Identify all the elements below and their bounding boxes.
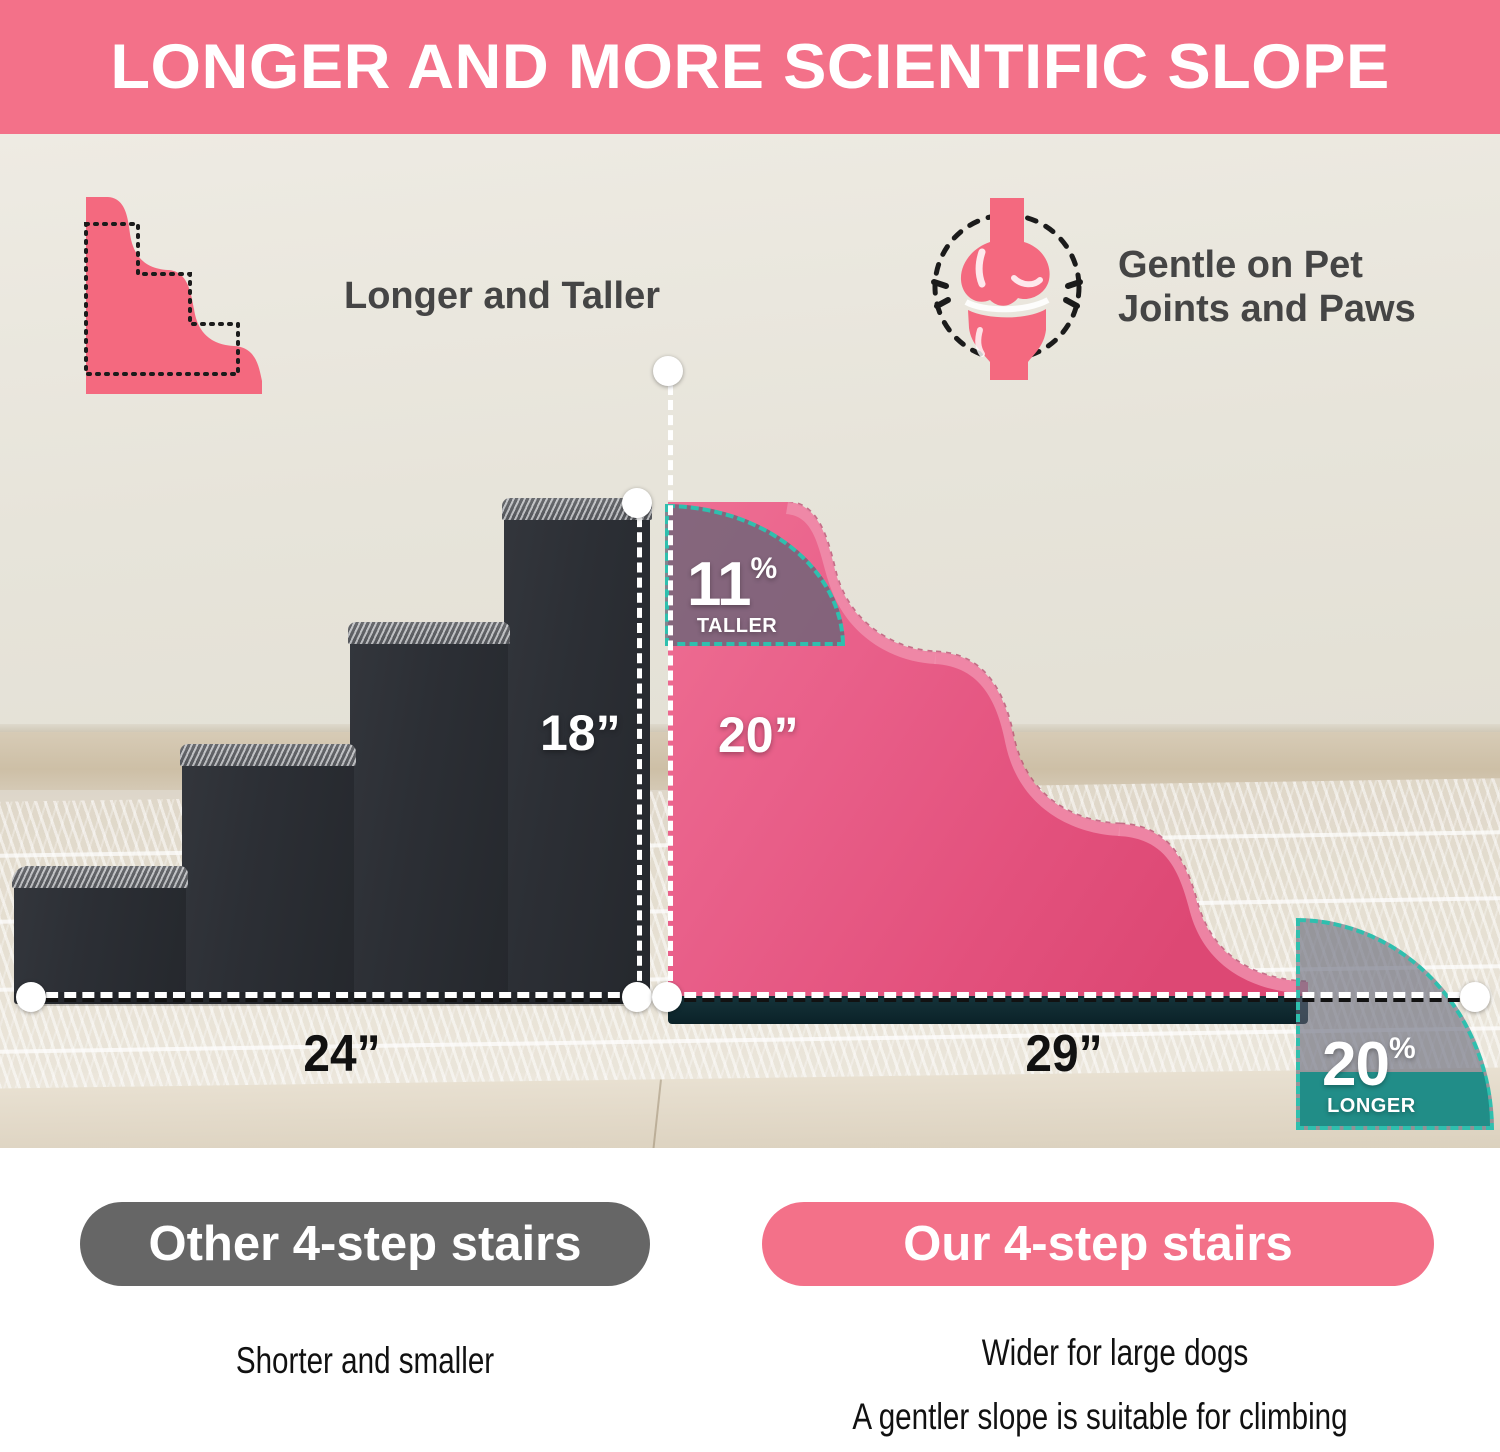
our-caption-1: Wider for large dogs	[807, 1332, 1423, 1374]
feature-label-longer-and-taller: Longer and Taller	[344, 275, 660, 319]
taller-badge-sub: TALLER	[687, 616, 777, 636]
product-comparison-photo: 11% TALLER 20% LONGER 18” 20” 24”	[0, 134, 1500, 1148]
dim-dot-other-top	[622, 488, 652, 518]
taller-badge-number: 11	[687, 550, 751, 619]
stairs-outline-icon	[78, 189, 318, 404]
dim-label-other-width: 24”	[303, 1024, 380, 1084]
longer-badge-sub: LONGER	[1322, 1096, 1416, 1116]
dim-dot-other-left	[16, 982, 46, 1012]
dim-line-other-height	[637, 502, 642, 996]
dim-dot-other-right	[622, 982, 652, 1012]
our-stairs-pill: Our 4-step stairs	[762, 1202, 1434, 1286]
dim-dot-our-right	[1460, 982, 1490, 1012]
dim-dot-our-left	[652, 982, 682, 1012]
taller-badge-percent: %	[751, 552, 778, 585]
dim-line-other-width-white	[28, 992, 638, 998]
dim-label-other-height: 18”	[540, 704, 621, 762]
dim-line-our-height	[668, 370, 673, 996]
dim-line-our-width-white	[666, 992, 1478, 998]
longer-badge-number: 20	[1322, 1030, 1389, 1099]
other-caption-1: Shorter and smaller	[73, 1340, 657, 1382]
longer-badge-percent: %	[1389, 1032, 1416, 1065]
feature-label-gentle-on-joints: Gentle on Pet Joints and Paws	[1118, 244, 1416, 331]
infographic-root: LONGER AND MORE SCIENTIFIC SLOPE	[0, 0, 1500, 1452]
pet-joint-bone-icon	[922, 190, 1092, 385]
feature-gentle-on-joints: Gentle on Pet Joints and Paws	[922, 190, 1416, 385]
header-banner: LONGER AND MORE SCIENTIFIC SLOPE	[0, 0, 1500, 134]
our-caption-2: A gentler slope is suitable for climbing	[780, 1396, 1420, 1438]
page-title: LONGER AND MORE SCIENTIFIC SLOPE	[110, 31, 1390, 103]
other-stairs-pill: Other 4-step stairs	[80, 1202, 650, 1286]
dim-label-our-height: 20”	[718, 706, 799, 764]
feature-longer-and-taller: Longer and Taller	[78, 189, 660, 404]
dim-label-our-width: 29”	[1025, 1024, 1102, 1084]
